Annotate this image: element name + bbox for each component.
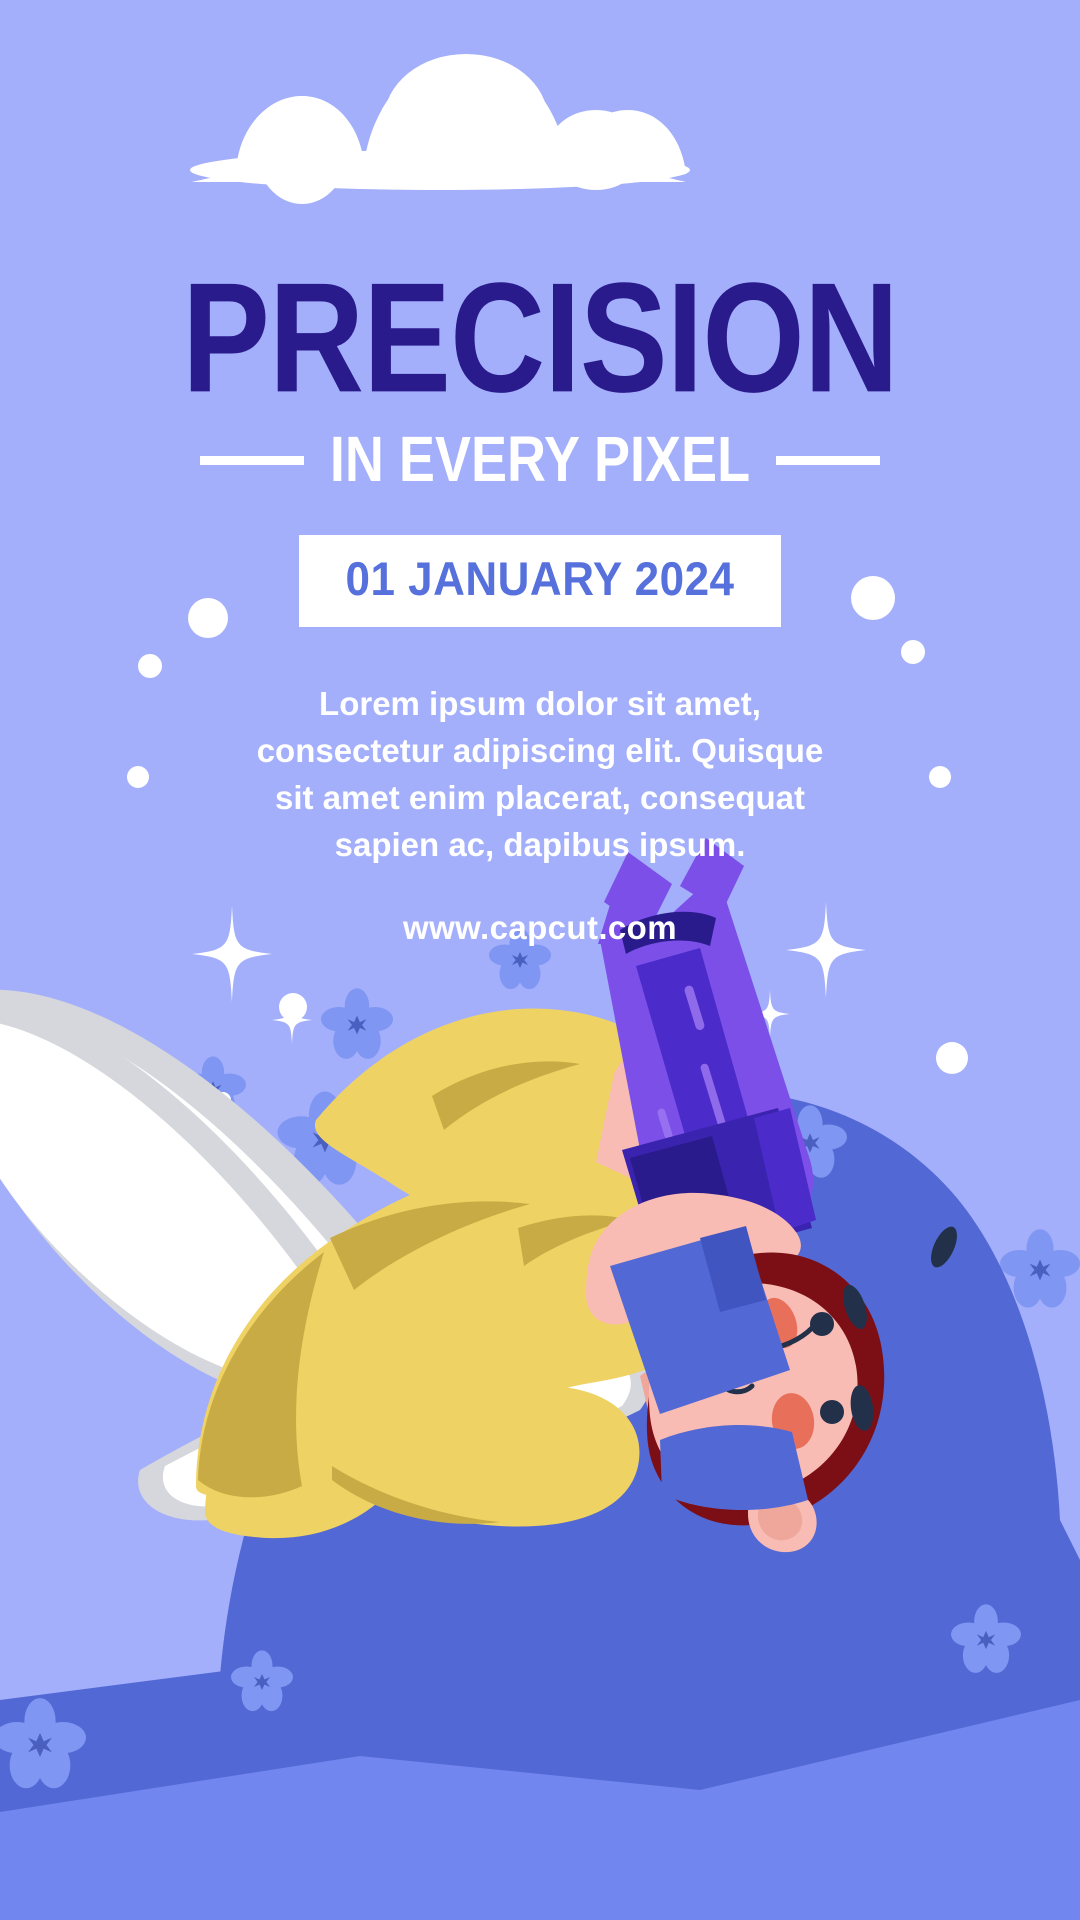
website-url[interactable]: www.capcut.com xyxy=(0,909,1080,947)
page-subtitle: IN EVERY PIXEL xyxy=(330,424,750,497)
date-badge-wrap: 01 JANUARY 2024 xyxy=(0,535,1080,627)
poster-content: PRECISION IN EVERY PIXEL 01 JANUARY 2024… xyxy=(0,0,1080,947)
event-date: 01 JANUARY 2024 xyxy=(345,553,734,607)
decor-dot xyxy=(279,993,307,1021)
rule-right xyxy=(776,456,880,465)
poster-canvas: PRECISION IN EVERY PIXEL 01 JANUARY 2024… xyxy=(0,0,1080,1920)
eye xyxy=(810,1312,834,1336)
decor-dot xyxy=(936,1042,968,1074)
body-paragraph: Lorem ipsum dolor sit amet, consectetur … xyxy=(240,681,840,868)
page-title: PRECISION xyxy=(0,262,1080,415)
subtitle-row: IN EVERY PIXEL xyxy=(0,429,1080,491)
rule-left xyxy=(200,456,304,465)
date-badge: 01 JANUARY 2024 xyxy=(299,535,780,627)
eye xyxy=(820,1400,844,1424)
